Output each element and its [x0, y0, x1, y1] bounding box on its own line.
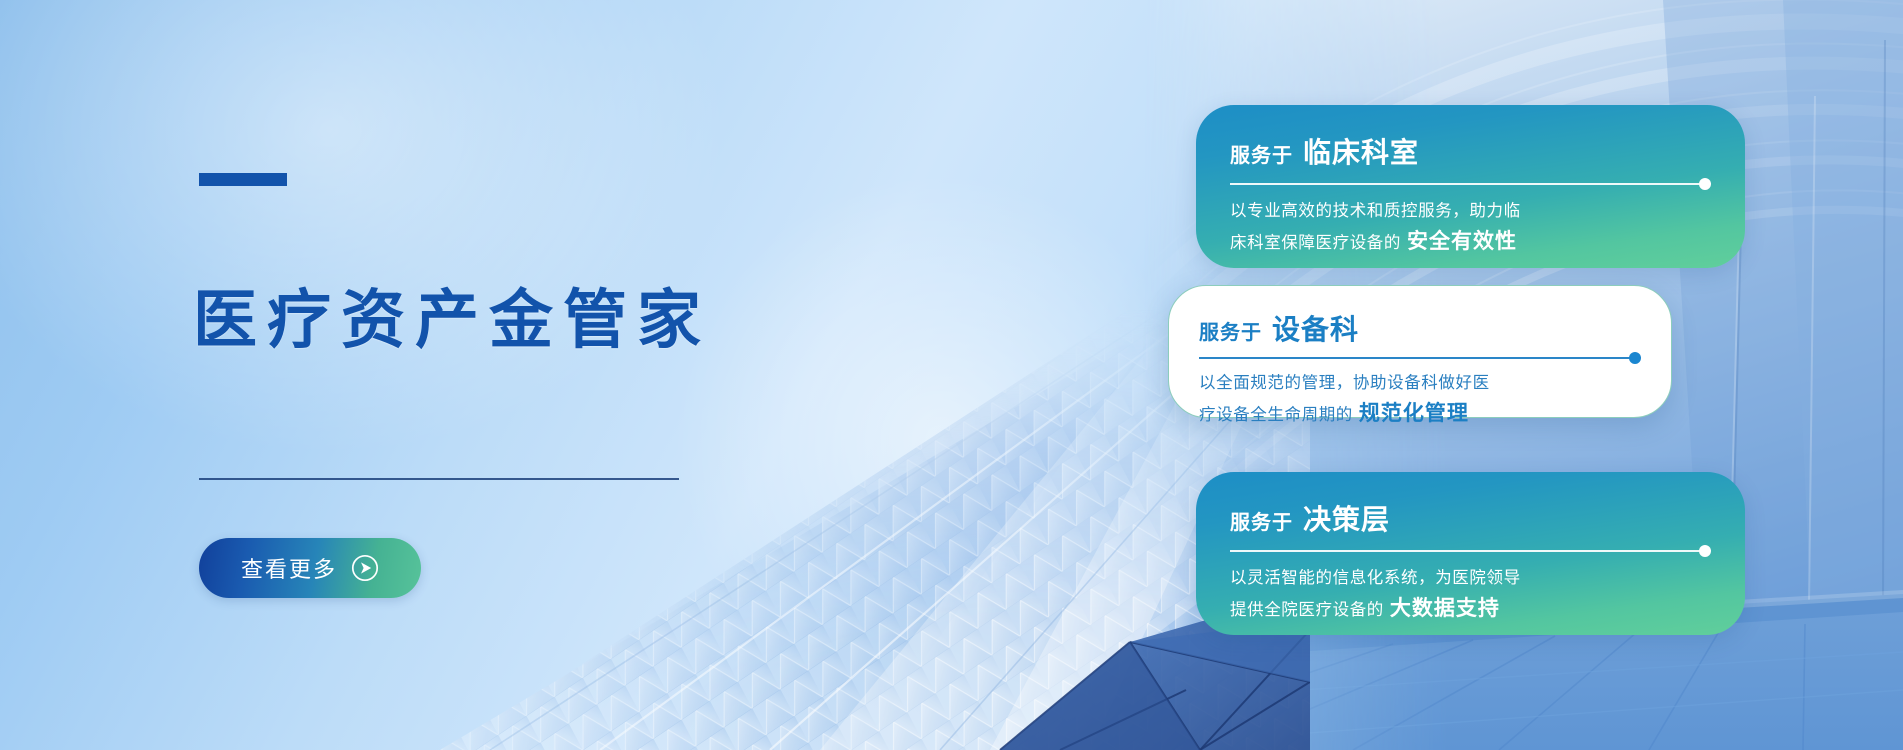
- card-body: 以全面规范的管理，协助设备科做好医 疗设备全生命周期的规范化管理: [1199, 370, 1641, 432]
- card-body-text: 床科室保障医疗设备的: [1230, 234, 1401, 252]
- card-title-prefix: 服务于: [1230, 506, 1293, 535]
- card-rule-line: [1230, 183, 1701, 185]
- card-rule-dot: [1699, 545, 1711, 557]
- card-title-prefix: 服务于: [1230, 139, 1293, 168]
- card-body-highlight: 安全有效性: [1407, 230, 1517, 253]
- card-body-text: 提供全院医疗设备的: [1230, 601, 1384, 619]
- card-title-main: 设备科: [1272, 308, 1359, 348]
- card-title: 服务于 决策层: [1230, 498, 1711, 538]
- card-rule-dot: [1699, 178, 1711, 190]
- service-cards: 服务于 临床科室 以专业高效的技术和质控服务，助力临 床科室保障医疗设备的安全有…: [0, 0, 1903, 750]
- card-title-main: 决策层: [1303, 498, 1390, 538]
- service-card-management[interactable]: 服务于 决策层 以灵活智能的信息化系统，为医院领导 提供全院医疗设备的大数据支持: [1196, 472, 1745, 635]
- card-body-line-2: 提供全院医疗设备的大数据支持: [1230, 592, 1711, 627]
- service-card-clinical[interactable]: 服务于 临床科室 以专业高效的技术和质控服务，助力临 床科室保障医疗设备的安全有…: [1196, 105, 1745, 268]
- hero-banner: 医疗资产金管家 查看更多 服务于 临床科室 以专业: [0, 0, 1903, 750]
- card-title-prefix: 服务于: [1199, 316, 1262, 345]
- card-body-highlight: 大数据支持: [1390, 597, 1500, 620]
- card-rule-dot: [1629, 352, 1641, 364]
- card-body-line-1: 以全面规范的管理，协助设备科做好医: [1199, 370, 1641, 397]
- card-rule-line: [1199, 357, 1631, 359]
- service-card-equipment[interactable]: 服务于 设备科 以全面规范的管理，协助设备科做好医 疗设备全生命周期的规范化管理: [1168, 285, 1672, 418]
- card-title: 服务于 临床科室: [1230, 131, 1711, 171]
- card-body-line-2: 疗设备全生命周期的规范化管理: [1199, 397, 1641, 432]
- card-body: 以专业高效的技术和质控服务，助力临 床科室保障医疗设备的安全有效性: [1230, 198, 1711, 260]
- card-body-line-1: 以灵活智能的信息化系统，为医院领导: [1230, 565, 1711, 592]
- card-rule: [1230, 550, 1711, 552]
- card-title: 服务于 设备科: [1199, 308, 1641, 348]
- card-body: 以灵活智能的信息化系统，为医院领导 提供全院医疗设备的大数据支持: [1230, 565, 1711, 627]
- card-rule: [1199, 357, 1641, 359]
- card-rule-line: [1230, 550, 1701, 552]
- card-body-highlight: 规范化管理: [1359, 402, 1469, 425]
- card-body-line-2: 床科室保障医疗设备的安全有效性: [1230, 225, 1711, 260]
- card-body-text: 疗设备全生命周期的: [1199, 406, 1353, 424]
- card-body-line-1: 以专业高效的技术和质控服务，助力临: [1230, 198, 1711, 225]
- card-rule: [1230, 183, 1711, 185]
- card-title-main: 临床科室: [1303, 131, 1419, 171]
